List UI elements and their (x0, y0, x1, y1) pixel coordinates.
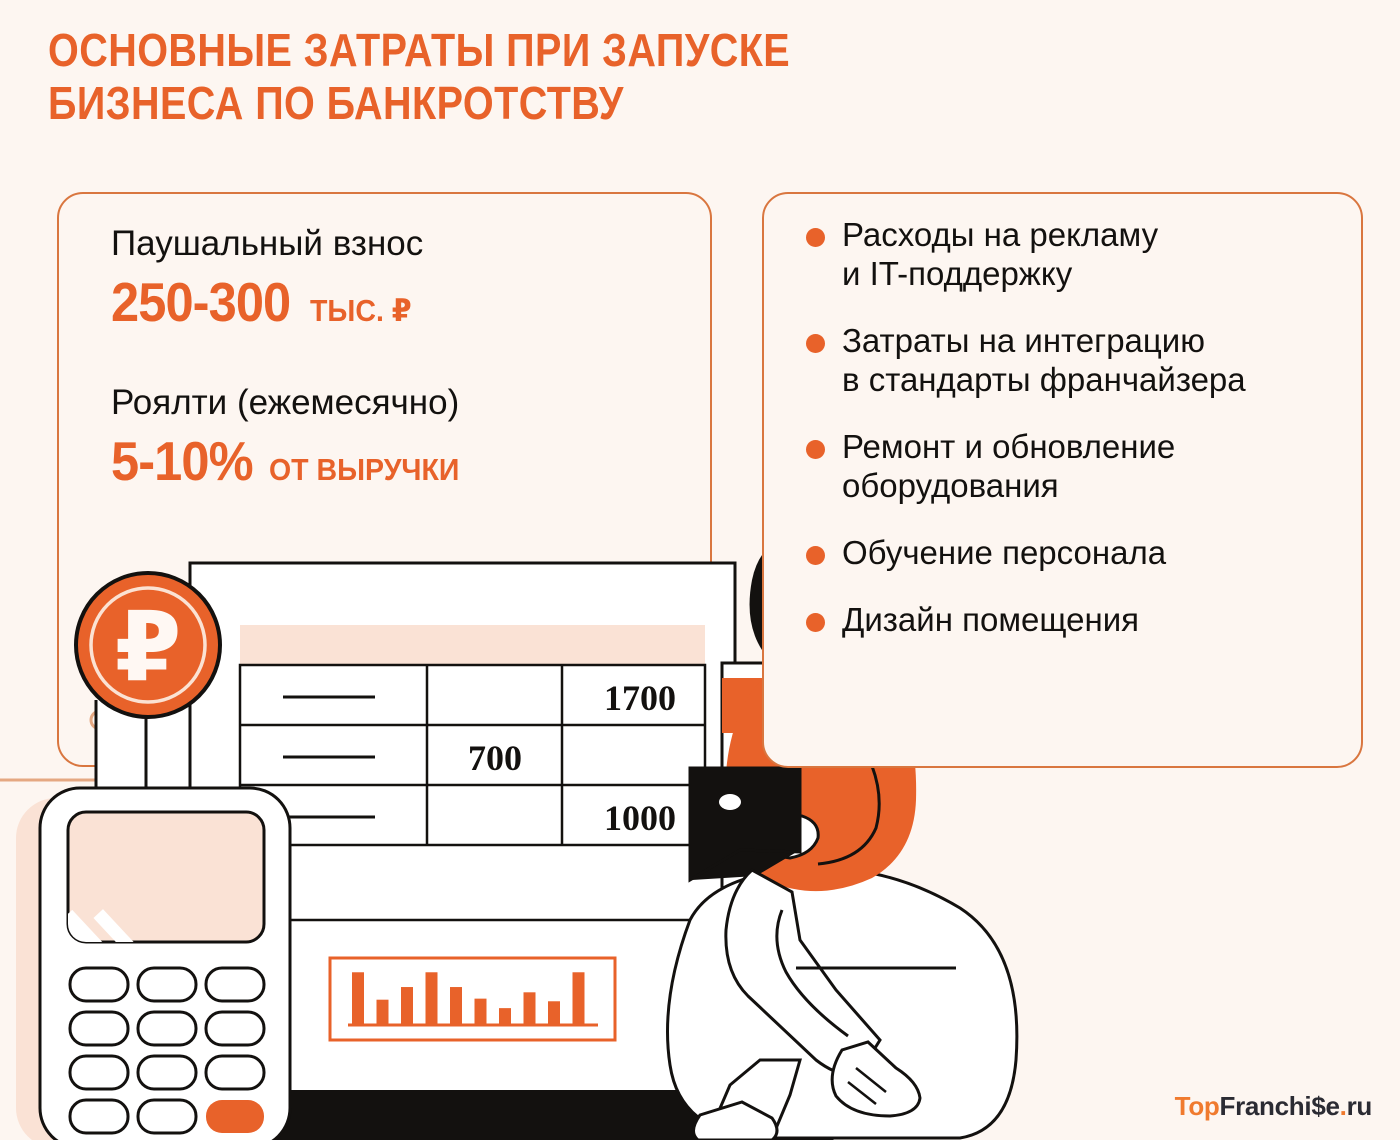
list-item: Ремонт и обновление оборудования (806, 428, 1346, 506)
fee-number: 5-10% (111, 434, 253, 489)
list-item-label: Обучение персонала (842, 534, 1166, 573)
bullet-dot-icon (806, 228, 825, 247)
fee-value: 5-10%от выручки (111, 434, 476, 489)
bar (426, 972, 438, 1025)
bullet-dot-icon (806, 440, 825, 459)
bar (499, 1008, 511, 1025)
infographic-canvas: ОСНОВНЫЕ ЗАТРАТЫ ПРИ ЗАПУСКЕ БИЗНЕСА ПО … (0, 0, 1400, 1140)
table-cell-value: 1000 (604, 798, 676, 838)
logo-part-top: Top (1175, 1091, 1220, 1121)
list-item: Затраты на интеграцию в стандарты франча… (806, 322, 1346, 400)
list-item: Дизайн помещения (806, 601, 1346, 640)
bar (377, 1000, 389, 1025)
fee-item-lump-sum: Паушальный взнос 250-300тыс. ₽ (111, 223, 423, 330)
list-item-label: Затраты на интеграцию в стандарты франча… (842, 322, 1246, 400)
fee-value: 250-300тыс. ₽ (111, 275, 423, 330)
fee-unit: тыс. ₽ (310, 295, 412, 326)
costs-bullet-list: Расходы на рекламу и IT-поддержку Затрат… (806, 216, 1346, 640)
page-title-line-1: ОСНОВНЫЕ ЗАТРАТЫ ПРИ ЗАПУСКЕ (48, 24, 891, 77)
calculator-key[interactable] (70, 1012, 128, 1045)
bar (524, 992, 536, 1025)
ruble-coin-icon: ₽ (76, 573, 220, 717)
calculator-key[interactable] (70, 968, 128, 1001)
bar-chart (330, 958, 615, 1040)
costs-card: Расходы на рекламу и IT-поддержку Затрат… (762, 192, 1363, 768)
logo-part-ru: ru (1347, 1091, 1372, 1121)
bar (475, 999, 487, 1025)
fee-unit: от выручки (269, 454, 459, 485)
ruble-symbol: ₽ (115, 594, 182, 701)
calculator-key[interactable] (206, 1012, 264, 1045)
calculator-key[interactable] (138, 968, 196, 1001)
equals-key[interactable] (206, 1100, 264, 1133)
fee-label: Роялти (ежемесячно) (111, 382, 476, 424)
fee-label: Паушальный взнос (111, 223, 423, 265)
logo-part-e: e (1325, 1091, 1339, 1121)
fee-item-royalty: Роялти (ежемесячно) 5-10%от выручки (111, 382, 476, 489)
page-title: ОСНОВНЫЕ ЗАТРАТЫ ПРИ ЗАПУСКЕ БИЗНЕСА ПО … (48, 24, 891, 130)
table-cell-value: 1700 (604, 678, 676, 718)
list-item: Обучение персонала (806, 534, 1346, 573)
logo-part-dot: . (1340, 1091, 1347, 1121)
list-item-label: Дизайн помещения (842, 601, 1139, 640)
calculator-key[interactable] (206, 1056, 264, 1089)
calculator-screen (68, 812, 264, 942)
calculator-key[interactable] (206, 968, 264, 1001)
list-item: Расходы на рекламу и IT-поддержку (806, 216, 1346, 294)
calculator-key[interactable] (70, 1100, 128, 1133)
list-item-label: Расходы на рекламу и IT-поддержку (842, 216, 1158, 294)
calculator-key[interactable] (138, 1100, 196, 1133)
calculator-key[interactable] (70, 1056, 128, 1089)
bullet-dot-icon (806, 613, 825, 632)
table-cell-value: 700 (468, 738, 522, 778)
bullet-dot-icon (806, 546, 825, 565)
logo-part-franchi: Franchi (1220, 1091, 1312, 1121)
brand-logo[interactable]: TopFranchi$e.ru (1175, 1091, 1372, 1122)
calculator-key[interactable] (138, 1056, 196, 1089)
fee-number: 250-300 (111, 275, 290, 330)
bar (573, 972, 585, 1025)
bullet-dot-icon (806, 334, 825, 353)
spreadsheet-table: 1700 700 1000 (240, 665, 705, 845)
bar (401, 987, 413, 1025)
table-header-band (240, 625, 705, 665)
bar (450, 987, 462, 1025)
calculator (16, 788, 290, 1140)
bar (548, 1001, 560, 1025)
logo-dollar-icon: $ (1311, 1091, 1325, 1121)
calculator-key[interactable] (138, 1012, 196, 1045)
page-title-line-2: БИЗНЕСА ПО БАНКРОТСТВУ (48, 77, 891, 130)
bar (352, 972, 364, 1025)
list-item-label: Ремонт и обновление оборудования (842, 428, 1175, 506)
